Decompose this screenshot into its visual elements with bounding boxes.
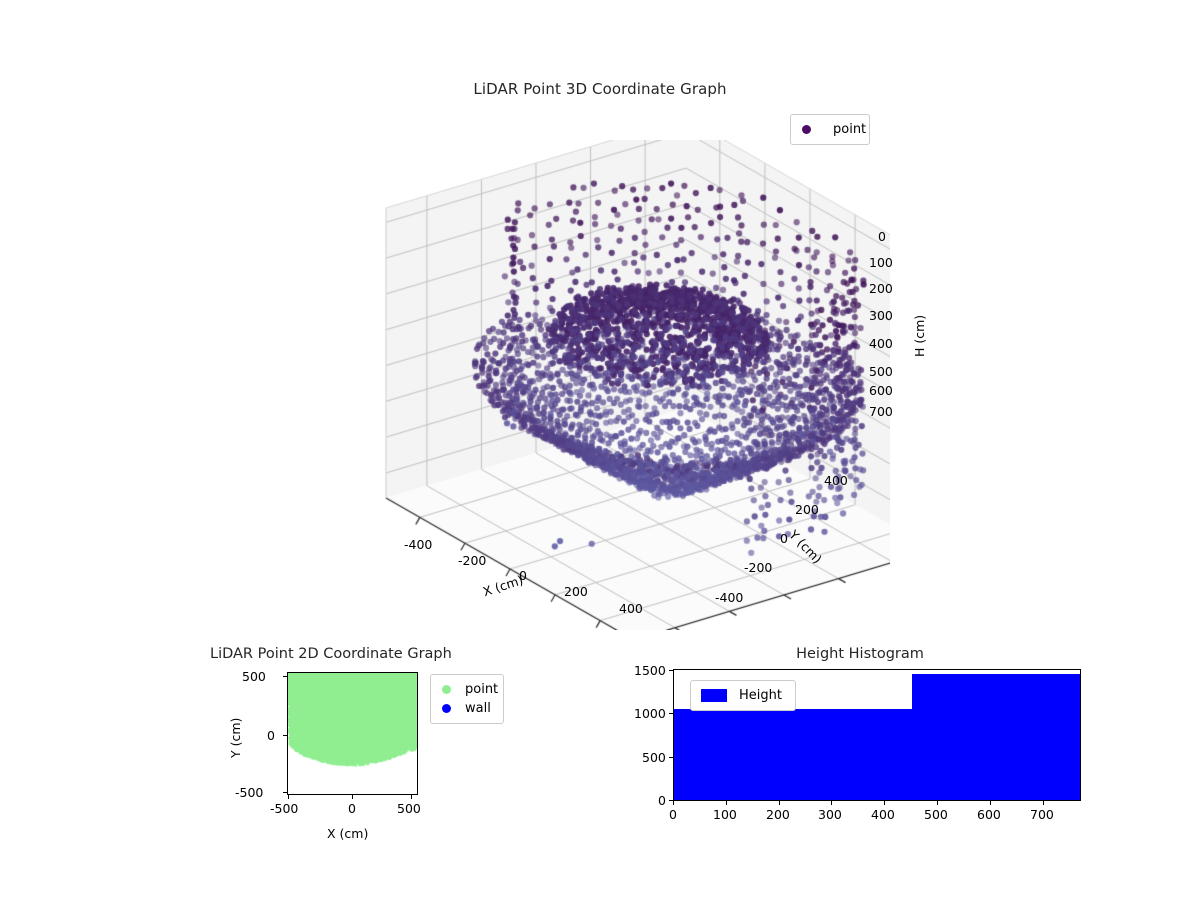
plot2d-legend: point wall	[430, 674, 504, 724]
histogram-xtick-200: 200	[766, 807, 790, 822]
histogram-xtickmark-300	[831, 801, 832, 805]
plot3d-ztick-300: 300	[869, 308, 893, 323]
plot3d-ztick-200: 200	[869, 281, 893, 296]
legend-label-height: Height	[739, 688, 782, 703]
plot2d-yaxis-label: Y (cm)	[228, 718, 243, 758]
plot3d-ytick-400: 400	[824, 473, 848, 488]
point-marker-icon	[802, 125, 811, 134]
histogram-xtickmark-100	[726, 801, 727, 805]
plot3d-ztick-500: 500	[869, 364, 893, 379]
plot3d-ytick--400: -400	[715, 590, 743, 605]
plot3d-ytick--200: -200	[744, 560, 772, 575]
point-marker-icon	[442, 685, 451, 694]
histogram-xtickmark-0	[673, 801, 674, 805]
histogram-xtick-600: 600	[977, 807, 1001, 822]
histogram-xtickmark-400	[884, 801, 885, 805]
plot3d-xtick--200: -200	[458, 553, 486, 568]
legend-item-point: point	[800, 120, 860, 139]
plot2d-scatter-area	[288, 673, 418, 795]
legend-item-height: Height	[700, 686, 786, 705]
histogram-xtickmark-200	[779, 801, 780, 805]
histogram-xtick-500: 500	[924, 807, 948, 822]
histogram-ytick-0: 0	[658, 793, 666, 808]
wall-marker-icon	[442, 704, 451, 713]
histogram-ytickmark-1500	[669, 670, 673, 671]
legend-label-point: point	[833, 122, 866, 137]
plot2d-ytick--500: -500	[235, 785, 263, 800]
histogram-xtick-400: 400	[871, 807, 895, 822]
histogram-ytick-500: 500	[642, 750, 666, 765]
plot2d-ytick-500: 500	[242, 669, 266, 684]
histogram-bar-0	[674, 709, 912, 800]
plot2d-xaxis-label: X (cm)	[327, 826, 368, 841]
histogram-xtickmark-700	[1043, 801, 1044, 805]
plot2d-xtick-500: 500	[397, 801, 421, 816]
legend-label-point: point	[465, 682, 498, 697]
plot3d-ztick-400: 400	[869, 336, 893, 351]
plot2d-title: LiDAR Point 2D Coordinate Graph	[210, 646, 452, 662]
legend-item-wall: wall	[440, 699, 494, 718]
legend-item-point: point	[440, 680, 494, 699]
plot2d-xtickmark-500	[411, 795, 412, 799]
plot3d-xtick-200: 200	[564, 584, 588, 599]
plot2d-panel: LiDAR Point 2D Coordinate Graph 500 0 -5…	[210, 640, 500, 860]
plot3d-ztick-0: 0	[878, 229, 886, 244]
plot3d-title: LiDAR Point 3D Coordinate Graph	[0, 80, 1200, 98]
plot2d-ytickmark-0	[283, 735, 287, 736]
plot3d-xtick-400: 400	[619, 601, 643, 616]
histogram-ytick-1500: 1500	[634, 663, 666, 678]
histogram-xtickmark-500	[937, 801, 938, 805]
histogram-bar-1	[912, 674, 1080, 800]
plot3d-ztick-100: 100	[869, 255, 893, 270]
plot3d-xtick--400: -400	[404, 537, 432, 552]
plot2d-ytickmark--500	[283, 792, 287, 793]
plot3d-ztick-600: 600	[869, 383, 893, 398]
histogram-xtick-300: 300	[818, 807, 842, 822]
plot2d-ytickmark-500	[283, 676, 287, 677]
plot3d-ytick-200: 200	[795, 502, 819, 517]
plot3d-zaxis-label: H (cm)	[912, 315, 927, 357]
plot2d-frame	[287, 672, 418, 795]
histogram-ytick-1000: 1000	[634, 706, 666, 721]
plot2d-xtickmark--500	[288, 795, 289, 799]
histogram-legend: Height	[690, 680, 796, 711]
plot3d-ztick-700: 700	[869, 404, 893, 419]
histogram-ytickmark-1000	[669, 713, 673, 714]
histogram-ytickmark-500	[669, 757, 673, 758]
height-bar-swatch-icon	[701, 689, 727, 702]
plot2d-xtickmark-0	[352, 795, 353, 799]
histogram-xtick-0: 0	[669, 807, 677, 822]
histogram-xtickmark-600	[990, 801, 991, 805]
histogram-xtick-700: 700	[1030, 807, 1054, 822]
plot2d-ytick-0: 0	[267, 728, 275, 743]
matplotlib-figure: LiDAR Point 3D Coordinate Graph point 0 …	[0, 0, 1200, 900]
plot2d-xtick--500: -500	[270, 801, 298, 816]
histogram-title: Height Histogram	[620, 646, 1100, 662]
plot2d-xtick-0: 0	[348, 801, 356, 816]
histogram-ytickmark-0	[669, 800, 673, 801]
legend-label-wall: wall	[465, 701, 491, 716]
histogram-xtick-100: 100	[713, 807, 737, 822]
histogram-panel: Height Histogram 1500 1000 500 0 0 100 2…	[620, 640, 1100, 860]
